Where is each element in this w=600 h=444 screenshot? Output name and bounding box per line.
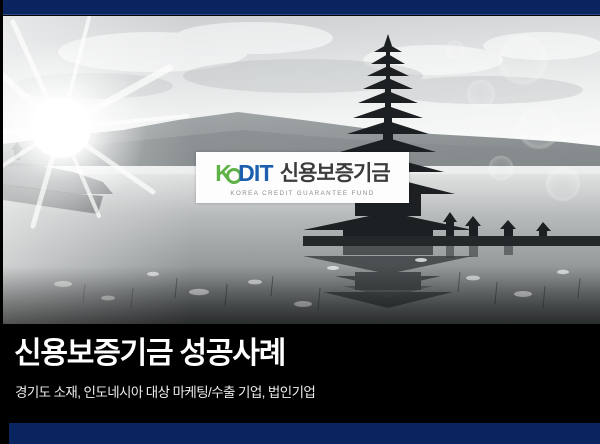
kodit-korean-name: 신용보증기금 <box>280 163 390 184</box>
kodit-tagline: KOREA CREDIT GUARANTEE FUND <box>230 190 374 197</box>
page-title: 신용보증기금 성공사례 <box>14 339 285 369</box>
kodit-letter-k: K <box>215 162 231 185</box>
logo-row: K DIT 신용보증기금 <box>215 160 389 186</box>
kodit-letters-dit: DIT <box>238 162 273 185</box>
kodit-wordmark-icon: K DIT <box>215 162 272 185</box>
kodit-logo-plate: K DIT 신용보증기금 KOREA CREDIT GUARANTEE FUND <box>196 152 409 203</box>
bottom-accent-bar <box>9 423 600 444</box>
top-accent-bar <box>3 0 600 15</box>
caption-block: 신용보증기금 성공사례 경기도 소재, 인도네시아 대상 마케팅/수출 기업, … <box>0 324 600 423</box>
page-subtitle: 경기도 소재, 인도네시아 대상 마케팅/수출 기업, 법인기업 <box>15 386 315 400</box>
